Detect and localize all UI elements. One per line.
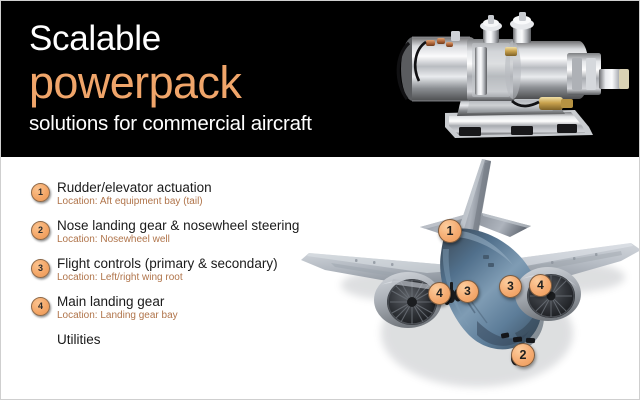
aircraft-callout-4-left[interactable]: 4: [428, 282, 451, 305]
legend-title-4: Main landing gear: [57, 293, 164, 310]
powerpack-product-image: [379, 9, 635, 151]
legend-badge-4: 4: [31, 297, 50, 316]
legend-title-1: Rudder/elevator actuation: [57, 179, 212, 196]
legend-location-2: Location: Nosewheel well: [57, 233, 170, 247]
aircraft-callout-1[interactable]: 1: [438, 219, 462, 243]
header-banner: Scalable powerpack solutions for commerc…: [1, 1, 640, 157]
legend-title-2: Nose landing gear & nosewheel steering: [57, 217, 299, 234]
aircraft-callout-2[interactable]: 2: [511, 343, 535, 367]
page-title-line1: Scalable: [29, 19, 312, 59]
legend-location-1: Location: Aft equipment bay (tail): [57, 195, 203, 209]
aircraft-callout-3-right[interactable]: 3: [499, 275, 522, 298]
aircraft-diagram: 1 4 3 3 4 2: [301, 157, 640, 400]
legend-title-utilities: Utilities: [57, 331, 101, 348]
legend-badge-1: 1: [31, 183, 50, 202]
aircraft-illustration: [301, 157, 640, 400]
page-subtitle: solutions for commercial aircraft: [29, 111, 312, 137]
legend-badge-3: 3: [31, 259, 50, 278]
slide-root: Scalable powerpack solutions for commerc…: [0, 0, 640, 400]
legend-location-4: Location: Landing gear bay: [57, 309, 178, 323]
aircraft-callout-3-left[interactable]: 3: [456, 280, 479, 303]
page-title-line2: powerpack: [29, 57, 312, 109]
title-block: Scalable powerpack solutions for commerc…: [29, 19, 312, 137]
aircraft-callout-4-right[interactable]: 4: [529, 274, 552, 297]
legend-badge-2: 2: [31, 221, 50, 240]
legend-title-3: Flight controls (primary & secondary): [57, 255, 278, 272]
legend-location-3: Location: Left/right wing root: [57, 271, 183, 285]
